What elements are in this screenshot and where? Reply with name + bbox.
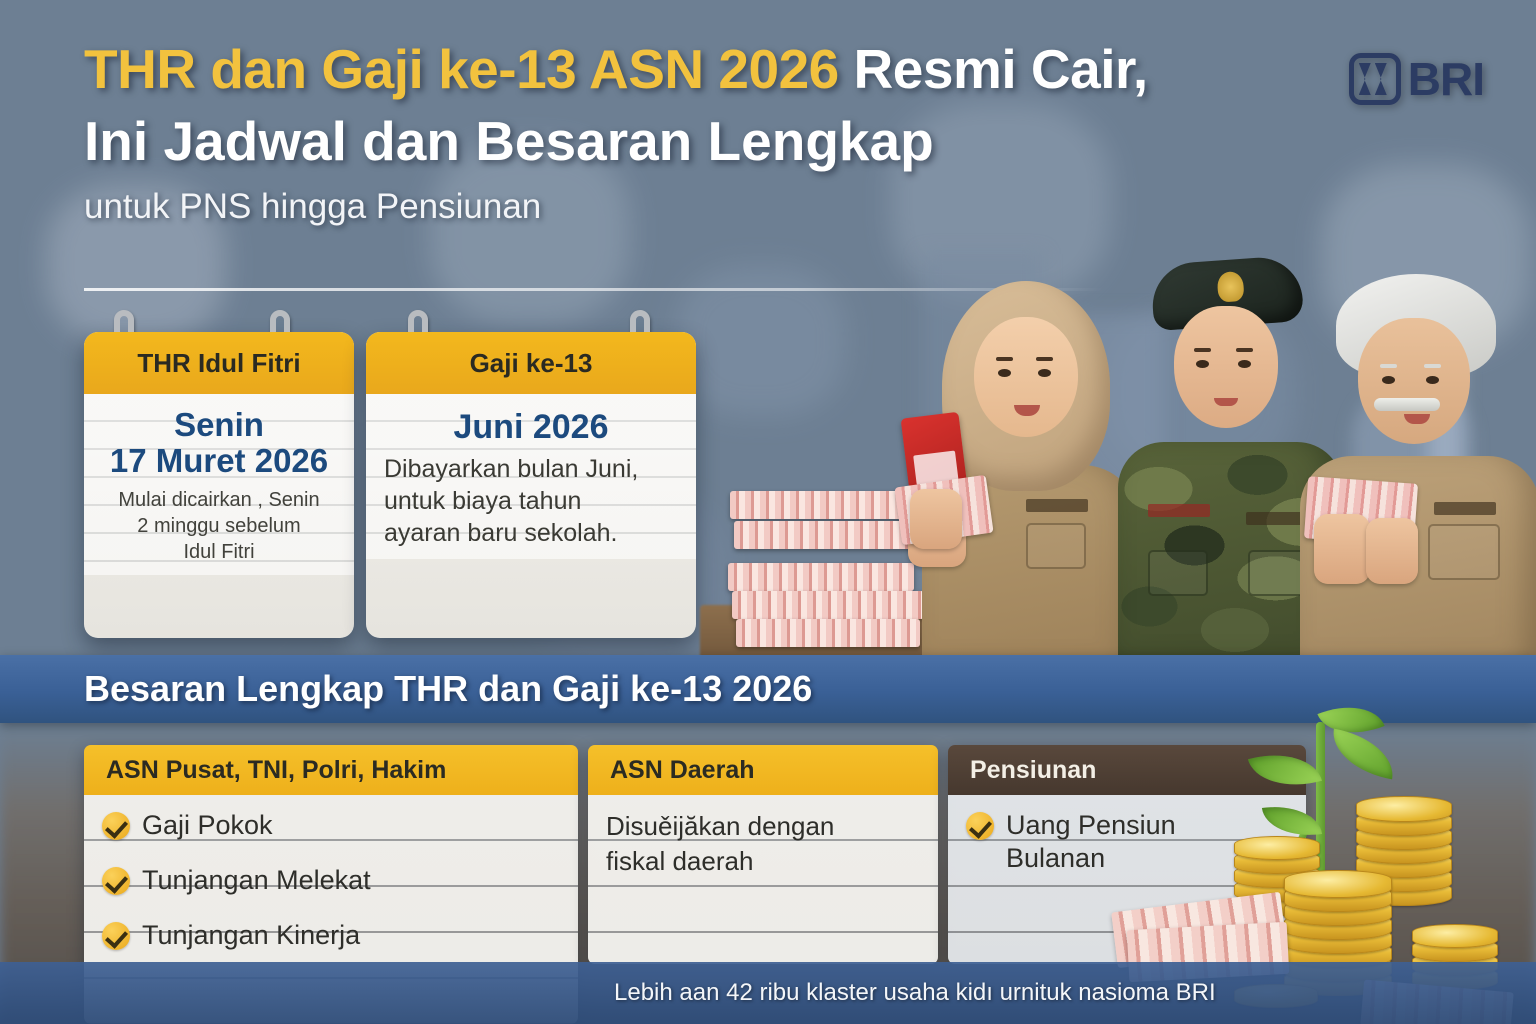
card-thr-note: Mulai dicairkan , Senin 2 minggu sebelum… <box>96 487 342 565</box>
name-tag <box>1246 512 1308 525</box>
name-tag <box>1026 499 1088 512</box>
list-item-label: Tunjangan Melekat <box>142 864 371 897</box>
headline-rest: Resmi Cair, <box>839 38 1148 100</box>
figure-elderly-pensioner <box>1300 270 1536 675</box>
figure-female-civil-servant <box>916 275 1146 675</box>
card-gaji-body: Juni 2026 Dibayarkan bulan Juni, untuk b… <box>366 394 696 559</box>
card-thr-header-label: THR Idul Fitri <box>137 348 300 379</box>
footer-text: Lebih aan 42 ribu klaster usaha kidı urn… <box>614 979 1216 1007</box>
panel-asn-daerah: ASN Daerah Disuěijăkan dengan fiskal dae… <box>588 745 938 964</box>
check-circle-icon <box>102 922 130 950</box>
section-banner-title: Besaran Lengkap THR dan Gaji ke-13 2026 <box>84 668 812 710</box>
card-gaji-month: Juni 2026 <box>378 408 684 447</box>
hand <box>1366 518 1418 584</box>
list-item-label: Tunjangan Kinerja <box>142 919 360 952</box>
bri-logo: BRI <box>1349 52 1484 106</box>
face <box>974 317 1078 437</box>
illustration-people <box>880 255 1536 675</box>
card-thr-note-line-1: Mulai dicairkan , Senin <box>96 487 342 513</box>
panel-asn-daerah-header: ASN Daerah <box>588 745 938 795</box>
infographic-canvas: THR dan Gaji ke-13 ASN 2026 Resmi Cair, … <box>0 0 1536 1024</box>
card-thr-idul-fitri: THR Idul Fitri Senin 17 Muret 2026 Mulai… <box>84 332 354 638</box>
card-gaji-header: Gaji ke-13 <box>366 332 696 394</box>
uniform-pocket <box>1026 523 1086 569</box>
card-gaji-desc-line-1: Dibayarkan bulan Juni, <box>384 453 678 485</box>
mustache <box>1374 398 1440 411</box>
check-circle-icon <box>102 812 130 840</box>
card-gaji-desc-line-3: ayaran baru sekolah. <box>384 517 678 549</box>
panel-pensiunan-header-label: Pensiunan <box>970 756 1096 785</box>
card-gaji-desc: Dibayarkan bulan Juni, untuk biaya tahun… <box>378 453 684 549</box>
bri-logo-text: BRI <box>1408 52 1484 106</box>
card-thr-header: THR Idul Fitri <box>84 332 354 394</box>
check-circle-icon <box>966 812 994 840</box>
card-thr-day: Senin <box>96 408 342 443</box>
check-circle-icon <box>102 867 130 895</box>
headline-highlight: THR dan Gaji ke-13 ASN 2026 <box>84 38 839 100</box>
bri-mark-icon <box>1349 53 1401 105</box>
panel-asn-daerah-text-line-2: fiskal daerah <box>606 844 920 879</box>
headline-subtitle: untuk PNS hingga Pensiunan <box>84 187 1324 227</box>
panel-asn-daerah-body: Disuěijăkan dengan fiskal daerah <box>588 795 938 964</box>
face <box>1358 318 1470 444</box>
card-gaji-header-label: Gaji ke-13 <box>470 348 593 379</box>
uniform-pocket <box>1248 550 1308 596</box>
card-gaji-ke-13: Gaji ke-13 Juni 2026 Dibayarkan bulan Ju… <box>366 332 696 638</box>
card-thr-date: 17 Muret 2026 <box>96 443 342 479</box>
name-tag <box>1434 502 1496 515</box>
hand <box>910 489 962 549</box>
panel-asn-pusat-header: ASN Pusat, TNI, Polri, Hakim <box>84 745 578 795</box>
panel-asn-pusat-header-label: ASN Pusat, TNI, Polri, Hakim <box>106 756 446 785</box>
list-item: Tunjangan Melekat <box>102 864 560 897</box>
list-item: Gaji Pokok <box>102 809 560 842</box>
card-thr-body: Senin 17 Muret 2026 Mulai dicairkan , Se… <box>84 394 354 575</box>
panel-asn-daerah-text-line-1: Disuěijăkan dengan <box>606 809 920 844</box>
hand <box>1314 514 1370 584</box>
face <box>1174 306 1278 428</box>
card-thr-note-line-2: 2 minggu sebelum <box>96 513 342 539</box>
card-thr-note-line-3: Idul Fitri <box>96 539 342 565</box>
beret-badge-icon <box>1217 271 1245 303</box>
page-title: THR dan Gaji ke-13 ASN 2026 Resmi Cair, … <box>84 40 1324 227</box>
uniform-pocket <box>1428 524 1500 580</box>
list-item: Tunjangan Kinerja <box>102 919 560 952</box>
list-item-label: Gaji Pokok <box>142 809 273 842</box>
footer-strip: Lebih aan 42 ribu klaster usaha kidı urn… <box>0 962 1536 1024</box>
plant-leaf <box>1248 742 1322 798</box>
card-gaji-desc-line-2: untuk biaya tahun <box>384 485 678 517</box>
panel-asn-daerah-header-label: ASN Daerah <box>610 756 755 785</box>
headline-line-1: THR dan Gaji ke-13 ASN 2026 Resmi Cair, <box>84 40 1324 99</box>
name-tag <box>1148 504 1210 517</box>
headline-line-2: Ini Jadwal dan Besaran Lengkap <box>84 109 1324 173</box>
plant-leaf <box>1327 729 1399 780</box>
uniform-pocket <box>1148 550 1208 596</box>
